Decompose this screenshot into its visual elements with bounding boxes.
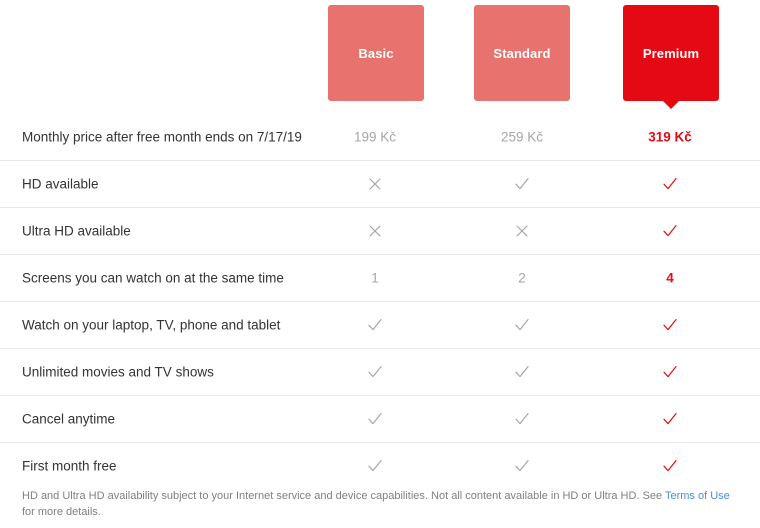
table-row: Cancel anytime — [0, 395, 760, 442]
table-row-inner: Ultra HD available — [22, 208, 745, 254]
table-row: Unlimited movies and TV shows — [0, 348, 760, 395]
feature-label: Screens you can watch on at the same tim… — [22, 271, 284, 286]
table-row-inner: HD available — [22, 161, 745, 207]
check-icon — [513, 363, 531, 381]
cross-icon — [366, 222, 384, 240]
table-row-inner: Cancel anytime — [22, 396, 745, 442]
check-icon — [366, 457, 384, 475]
check-icon — [513, 410, 531, 428]
cell-premium — [640, 457, 700, 475]
table-row-inner: First month free — [22, 443, 745, 489]
table-row: Watch on your laptop, TV, phone and tabl… — [0, 301, 760, 348]
table-row-inner: Unlimited movies and TV shows — [22, 349, 745, 395]
table-row-inner: Monthly price after free month ends on 7… — [22, 113, 745, 160]
cell-standard: 2 — [492, 271, 552, 285]
check-icon — [661, 363, 679, 381]
plan-comparison-page: BasicStandardPremium Monthly price after… — [0, 0, 760, 528]
check-icon — [366, 363, 384, 381]
plan-header-premium[interactable]: Premium — [623, 5, 719, 101]
footnote: HD and Ultra HD availability subject to … — [22, 489, 734, 521]
plan-header-row: BasicStandardPremium — [0, 5, 760, 105]
table-row: Screens you can watch on at the same tim… — [0, 254, 760, 301]
table-row-inner: Watch on your laptop, TV, phone and tabl… — [22, 302, 745, 348]
check-icon — [661, 457, 679, 475]
feature-label: First month free — [22, 459, 117, 474]
selected-plan-pointer-icon — [662, 100, 680, 109]
cell-premium — [640, 363, 700, 381]
check-icon — [661, 410, 679, 428]
check-icon — [366, 316, 384, 334]
feature-label: Ultra HD available — [22, 224, 131, 239]
cell-premium — [640, 175, 700, 193]
table-row: Ultra HD available — [0, 207, 760, 254]
check-icon — [513, 175, 531, 193]
cell-premium — [640, 316, 700, 334]
feature-label: Cancel anytime — [22, 412, 115, 427]
check-icon — [513, 457, 531, 475]
check-icon — [661, 175, 679, 193]
cell-basic — [345, 222, 405, 240]
cell-basic — [345, 175, 405, 193]
cell-standard — [492, 222, 552, 240]
plan-header-label: Premium — [643, 47, 699, 60]
table-row-inner: Screens you can watch on at the same tim… — [22, 255, 745, 301]
cell-basic — [345, 410, 405, 428]
cell-basic: 199 Kč — [345, 130, 405, 144]
check-icon — [661, 316, 679, 334]
cell-standard — [492, 175, 552, 193]
feature-label: Monthly price after free month ends on 7… — [22, 129, 302, 144]
cell-basic — [345, 457, 405, 475]
plan-header-standard[interactable]: Standard — [474, 5, 570, 101]
feature-label: Unlimited movies and TV shows — [22, 365, 214, 380]
terms-of-use-link[interactable]: Terms of Use — [665, 490, 730, 502]
check-icon — [366, 410, 384, 428]
table-row: Monthly price after free month ends on 7… — [0, 113, 760, 160]
table-row: First month free — [0, 442, 760, 489]
footnote-text-before: HD and Ultra HD availability subject to … — [22, 490, 665, 502]
cell-standard — [492, 457, 552, 475]
cell-basic — [345, 316, 405, 334]
footnote-text-after: for more details. — [22, 506, 101, 518]
feature-label: Watch on your laptop, TV, phone and tabl… — [22, 318, 280, 333]
cell-standard — [492, 363, 552, 381]
table-row: HD available — [0, 160, 760, 207]
cell-basic: 1 — [345, 271, 405, 285]
cell-basic — [345, 363, 405, 381]
cell-standard — [492, 410, 552, 428]
plan-header-label: Basic — [358, 47, 393, 60]
cell-premium: 319 Kč — [640, 130, 700, 144]
cell-premium — [640, 222, 700, 240]
cross-icon — [366, 175, 384, 193]
cross-icon — [513, 222, 531, 240]
check-icon — [513, 316, 531, 334]
cell-premium: 4 — [640, 271, 700, 285]
feature-label: HD available — [22, 177, 99, 192]
cell-premium — [640, 410, 700, 428]
plan-header-basic[interactable]: Basic — [328, 5, 424, 101]
check-icon — [661, 222, 679, 240]
cell-standard: 259 Kč — [492, 130, 552, 144]
plan-header-label: Standard — [493, 47, 550, 60]
plan-comparison-table: Monthly price after free month ends on 7… — [0, 113, 760, 489]
cell-standard — [492, 316, 552, 334]
